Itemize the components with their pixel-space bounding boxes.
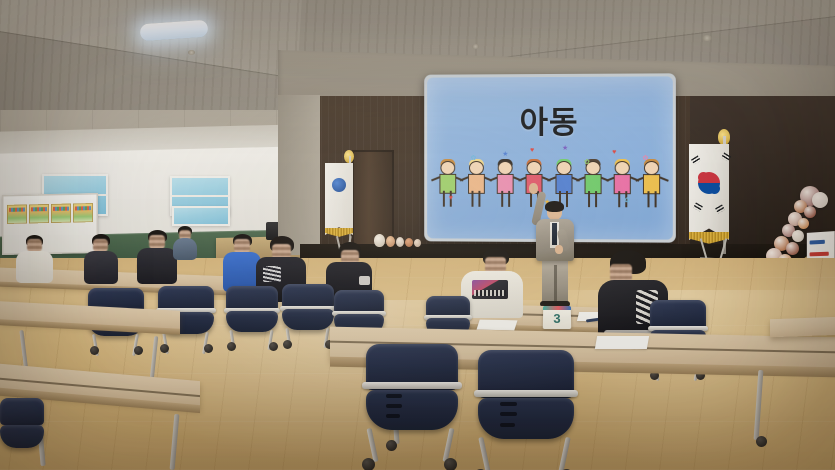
attendee-white-print <box>461 252 523 318</box>
taeguk-lower-lobe <box>709 183 720 194</box>
table-row <box>770 317 835 337</box>
slide-decoration-icon: ✿ <box>624 197 630 204</box>
attendee-back-left-1 <box>14 236 54 282</box>
wall-poster <box>73 203 93 222</box>
chair <box>0 398 44 456</box>
slide-decoration-icon: ✿ <box>584 159 590 166</box>
window-center-lower <box>172 206 230 226</box>
slide-decoration-icon: ★ <box>562 145 568 152</box>
ceiling-fixture-dot <box>188 50 195 55</box>
attendee-back-left-2 <box>82 236 120 284</box>
chair-crossbar <box>474 390 578 397</box>
table-card-stripe <box>543 306 571 310</box>
banner-text-line <box>810 240 825 245</box>
attendee-staff-desk <box>172 226 198 260</box>
worksheet-sheets <box>476 320 517 331</box>
slide-decoration-icon: ✿ <box>642 155 648 162</box>
slide-child-figure <box>435 161 460 219</box>
table-number-card: 3 <box>543 307 571 329</box>
stage-door <box>352 150 394 246</box>
ceiling-fixture-dot <box>702 35 712 41</box>
stage-plush-toy <box>396 237 404 247</box>
chair <box>226 286 278 340</box>
presenter-leg-gap <box>554 265 557 305</box>
chair-seat <box>0 425 44 448</box>
tshirt-graphic-text <box>474 290 506 296</box>
balloon <box>804 206 816 218</box>
balloon <box>798 218 809 229</box>
slide-decoration-icon: ★ <box>502 151 508 158</box>
organization-flag-emblem-icon <box>332 178 346 192</box>
chair-backrest <box>0 398 44 425</box>
chair-seat <box>366 390 458 430</box>
slide-decoration-icon: ♥ <box>449 195 453 202</box>
organization-flag <box>325 163 353 235</box>
presenter-tie <box>552 223 557 245</box>
slide-child-figure <box>610 161 635 219</box>
presenter-hair <box>545 201 564 212</box>
wall-poster <box>51 204 71 223</box>
chair <box>478 350 574 454</box>
chair <box>282 284 334 338</box>
slide-title: 아동 <box>427 97 673 143</box>
slide-child-figure <box>493 161 518 219</box>
slide-decoration-icon: ✿ <box>471 155 477 162</box>
slide-child-figure <box>464 161 489 219</box>
table-number-value: 3 <box>553 311 560 326</box>
proscenium-left-pillar <box>278 95 320 255</box>
presenter-raised-hand <box>529 183 538 194</box>
slide-child-figure <box>639 161 664 219</box>
stage-plush-toy <box>414 239 421 247</box>
seminar-room-photo: 아동 ♥✿★♥✿★✿♥✿★ <box>0 0 835 470</box>
stage-plush-toy <box>405 238 413 247</box>
table-caster <box>756 436 767 447</box>
wall-poster <box>7 204 27 223</box>
balloon <box>786 242 799 255</box>
slide-child-figure <box>580 161 605 219</box>
balloon <box>812 192 828 208</box>
wall-poster <box>29 204 49 223</box>
stage-plush-toy <box>386 236 395 247</box>
chair <box>366 344 458 444</box>
chair-seat <box>478 398 574 440</box>
slide-decoration-icon: ♥ <box>530 147 534 154</box>
slide-decoration-icon: ♥ <box>612 149 616 156</box>
balloon <box>792 230 804 242</box>
chair-crossbar <box>362 382 461 389</box>
stage-plush-toy <box>374 234 385 247</box>
ceiling-fixture-dot <box>472 44 479 49</box>
presenter <box>533 203 577 305</box>
taeguk-upper-lobe <box>698 172 709 183</box>
banner-text-line <box>810 252 829 257</box>
presenter-hand <box>555 245 563 254</box>
worksheet-sheets <box>595 336 649 349</box>
